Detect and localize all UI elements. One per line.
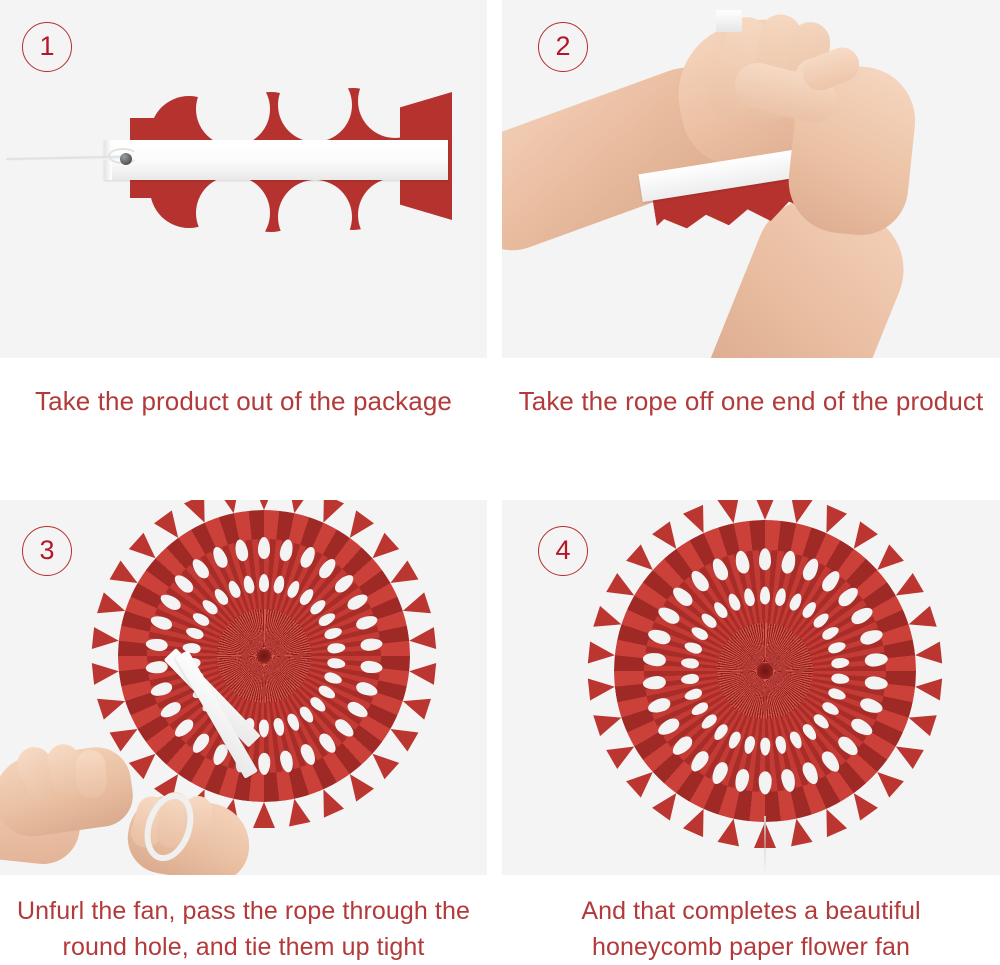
fan-cutout [711, 722, 730, 743]
fan-cutout [298, 705, 316, 725]
fan-tip [253, 802, 275, 828]
caption-line: Unfurl the fan, pass the rope through th… [0, 893, 487, 929]
step-3-photo: 3 [0, 500, 487, 875]
step-panel-2: 2 Take the rope o [502, 0, 1000, 420]
fan-cutout [273, 575, 286, 594]
step-panel-4: 4 And that completes a beautiful honeyco… [502, 500, 1000, 965]
fan-cutout [742, 735, 756, 755]
fan-holes-inner [118, 510, 410, 802]
fan-cutout [820, 624, 841, 642]
fan-cutout [726, 730, 743, 751]
caption-line: Take the rope off one end of the product [502, 382, 1000, 420]
fan-cutout [324, 671, 344, 686]
step-4-badge: 4 [538, 526, 588, 576]
fan-tip [408, 660, 436, 685]
fan-cutout [327, 658, 345, 670]
fan-cutout [820, 700, 841, 718]
fan-cutout [680, 657, 699, 669]
step-panel-3: 3 [0, 500, 487, 965]
fan-cutout [286, 579, 302, 599]
fan-notch [278, 68, 352, 142]
fan-cutout [774, 735, 788, 755]
fan-cutout [317, 684, 337, 701]
fan-notch [196, 72, 270, 146]
fan-cutout [680, 673, 699, 685]
fan-cutout [831, 657, 850, 669]
caption-line: Take the product out of the package [0, 382, 487, 420]
caption-line: round hole, and tie them up tight [0, 929, 487, 965]
fan-cutout [800, 722, 819, 743]
fan-cutout [831, 673, 850, 685]
fan-cutout [242, 575, 255, 594]
fan-cutout [787, 592, 804, 613]
step-4-caption: And that completes a beautiful honeycomb… [502, 875, 1000, 965]
left-finger [74, 749, 107, 799]
fan-cutout [787, 730, 804, 751]
fan-cutout [827, 687, 847, 702]
fan-cutout [827, 640, 847, 655]
opened-fan [118, 510, 410, 802]
folded-fan-scene [0, 0, 487, 358]
fan-cutout [286, 713, 302, 733]
fan-tip [408, 627, 436, 652]
step-2-badge: 2 [538, 22, 588, 72]
fan-cutout [711, 600, 730, 621]
fan-tip [588, 676, 616, 701]
fan-tip [588, 642, 616, 667]
fan-tip [754, 500, 776, 520]
fan-cutout [760, 737, 770, 755]
caption-line: And that completes a beautiful [502, 893, 1000, 929]
fan-cutout [226, 579, 242, 599]
fan-cutout [683, 687, 703, 702]
step-1-photo: 1 [0, 0, 487, 358]
fan-cutout [327, 643, 345, 655]
step-2-photo: 2 [502, 0, 1000, 358]
white-band [104, 140, 448, 180]
fan-cutout [811, 712, 831, 732]
fan-cutout [317, 611, 337, 628]
hanging-string [764, 816, 766, 874]
fan-cutout [774, 587, 788, 607]
fan-cutout [683, 640, 703, 655]
fan-cutout [742, 587, 756, 607]
step-4-photo: 4 [502, 500, 1000, 875]
fan-cutout [324, 626, 344, 641]
fan-cutout [308, 695, 328, 714]
instruction-sheet: 1 [0, 0, 1000, 956]
fan-tip [92, 660, 120, 685]
fan-tip [253, 500, 275, 510]
fan-tip [786, 816, 813, 846]
fan-cutout [760, 586, 770, 604]
step-panel-1: 1 [0, 0, 487, 420]
fan-notch [196, 176, 270, 250]
rope-end [716, 10, 742, 32]
finished-fan [614, 520, 916, 822]
fan-cutout [689, 624, 710, 642]
fan-tip [717, 816, 744, 846]
fan-tip [914, 642, 942, 667]
step-3-badge: 3 [22, 526, 72, 576]
step-1-badge: 1 [22, 22, 72, 72]
fan-notch [278, 180, 352, 254]
fan-tip [914, 676, 942, 701]
fan-cutout [726, 592, 743, 613]
caption-line: honeycomb paper flower fan [502, 929, 1000, 965]
fan-tip [284, 797, 311, 827]
fan-cutout [689, 700, 710, 718]
unfurling-scene [0, 500, 487, 875]
fan-tip [92, 627, 120, 652]
fan-cutout [259, 720, 269, 738]
fan-cutout [185, 626, 205, 641]
fan-cutout [699, 611, 719, 631]
step-1-caption: Take the product out of the package [0, 358, 487, 420]
fan-cutout [259, 574, 269, 592]
metal-eyelet [120, 153, 132, 165]
step-3-caption: Unfurl the fan, pass the rope through th… [0, 875, 487, 965]
fan-cutout [191, 611, 211, 628]
step-2-caption: Take the rope off one end of the product [502, 358, 1000, 420]
fan-cutout [273, 718, 286, 737]
fan-holes-inner [614, 520, 916, 822]
